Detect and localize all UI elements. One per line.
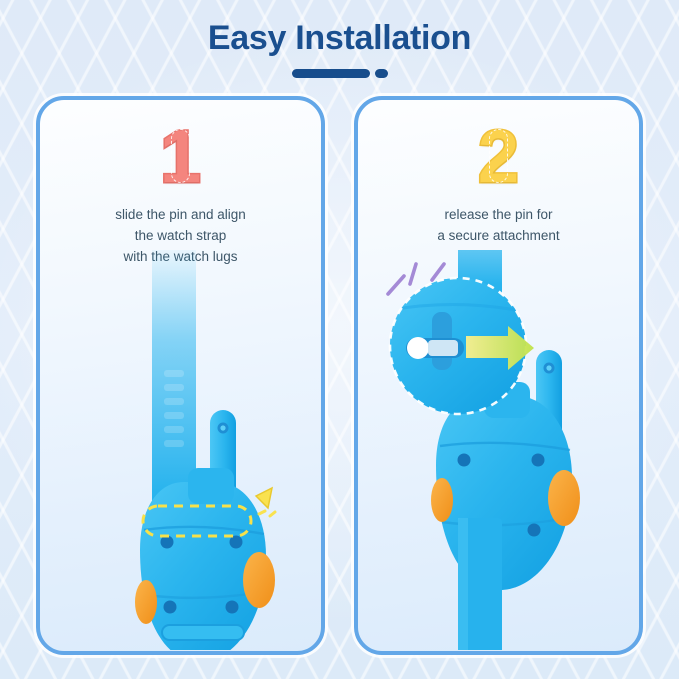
page-header: Easy Installation <box>0 18 679 78</box>
walkie-talkie-body-graphic <box>135 468 275 650</box>
infographic-canvas: Easy Installation 1 slide the pin and al… <box>0 0 679 679</box>
title-divider <box>0 69 679 78</box>
device-side-button-left <box>431 478 453 522</box>
step-2-illustration <box>358 250 639 650</box>
step-1-illustration <box>40 250 321 650</box>
step-caption-2-line-2: a secure attachment <box>358 226 639 247</box>
step-caption-1-line-1: slide the pin and align <box>40 205 321 226</box>
step-caption-2: release the pin for a secure attachment <box>358 205 639 247</box>
device-side-button-left <box>135 580 157 624</box>
step-caption-2-line-1: release the pin for <box>358 205 639 226</box>
pin-arrow-icon <box>256 488 275 516</box>
divider-bar-icon <box>292 69 370 78</box>
device-side-button-right <box>243 552 275 608</box>
page-title: Easy Installation <box>0 18 679 59</box>
device-side-button-right <box>548 470 580 526</box>
step-card-1: 1 slide the pin and align the watch stra… <box>36 96 325 655</box>
steps-container: 1 slide the pin and align the watch stra… <box>36 96 643 647</box>
step-card-2: 2 release the pin for a secure attachmen… <box>354 96 643 655</box>
step-number-1-glyph: 1 <box>160 120 201 194</box>
watch-strap-graphic-lower <box>458 518 502 650</box>
step-number-1: 1 <box>40 120 321 194</box>
step-number-2-glyph: 2 <box>478 120 519 194</box>
divider-dot-icon <box>375 69 388 78</box>
step-number-2: 2 <box>358 120 639 194</box>
step-caption-1-line-2: the watch strap <box>40 226 321 247</box>
